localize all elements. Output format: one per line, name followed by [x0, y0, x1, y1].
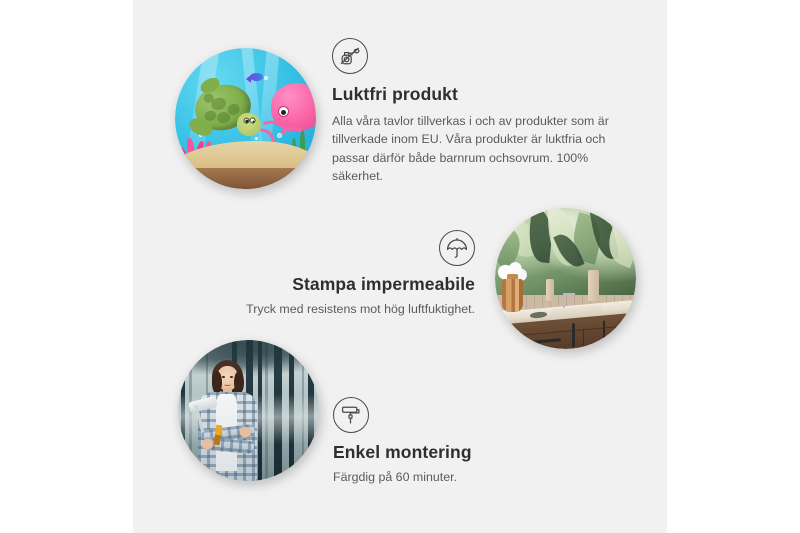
soap-bottle-left: [546, 279, 554, 302]
faucet: [563, 293, 566, 309]
soap-bottle-right: [588, 270, 599, 301]
feature-body: Alla våra tavlor tillverkas i och av pro…: [332, 112, 623, 185]
feature-mounting: Enkel montering Färgdig på 60 minuter.: [333, 397, 593, 486]
feature-odourless: Luktfri produkt Alla våra tavlor tillver…: [332, 38, 632, 185]
ribbed-vase: [502, 279, 523, 313]
decorator-in-forest-photo: [178, 340, 319, 481]
screenshot-stage: Luktfri produkt Alla våra tavlor tillver…: [0, 0, 800, 533]
bathroom-wallpaper-photo: [495, 208, 636, 349]
feature-waterproof: Stampa impermeabile Tryck med resistens …: [222, 230, 475, 318]
paint-roller-icon: [333, 397, 369, 433]
feature-body: Färgdig på 60 minuter.: [333, 468, 593, 486]
underwater-sea-life-photo: [175, 48, 316, 189]
feature-body: Tryck med resistens mot hög luftfuktighe…: [222, 300, 475, 318]
feature-title: Stampa impermeabile: [222, 274, 475, 296]
umbrella-icon: [439, 230, 475, 266]
feature-title: Luktfri produkt: [332, 84, 632, 106]
feature-title: Enkel montering: [333, 442, 593, 464]
no-fragrance-spray-icon: [332, 38, 368, 74]
